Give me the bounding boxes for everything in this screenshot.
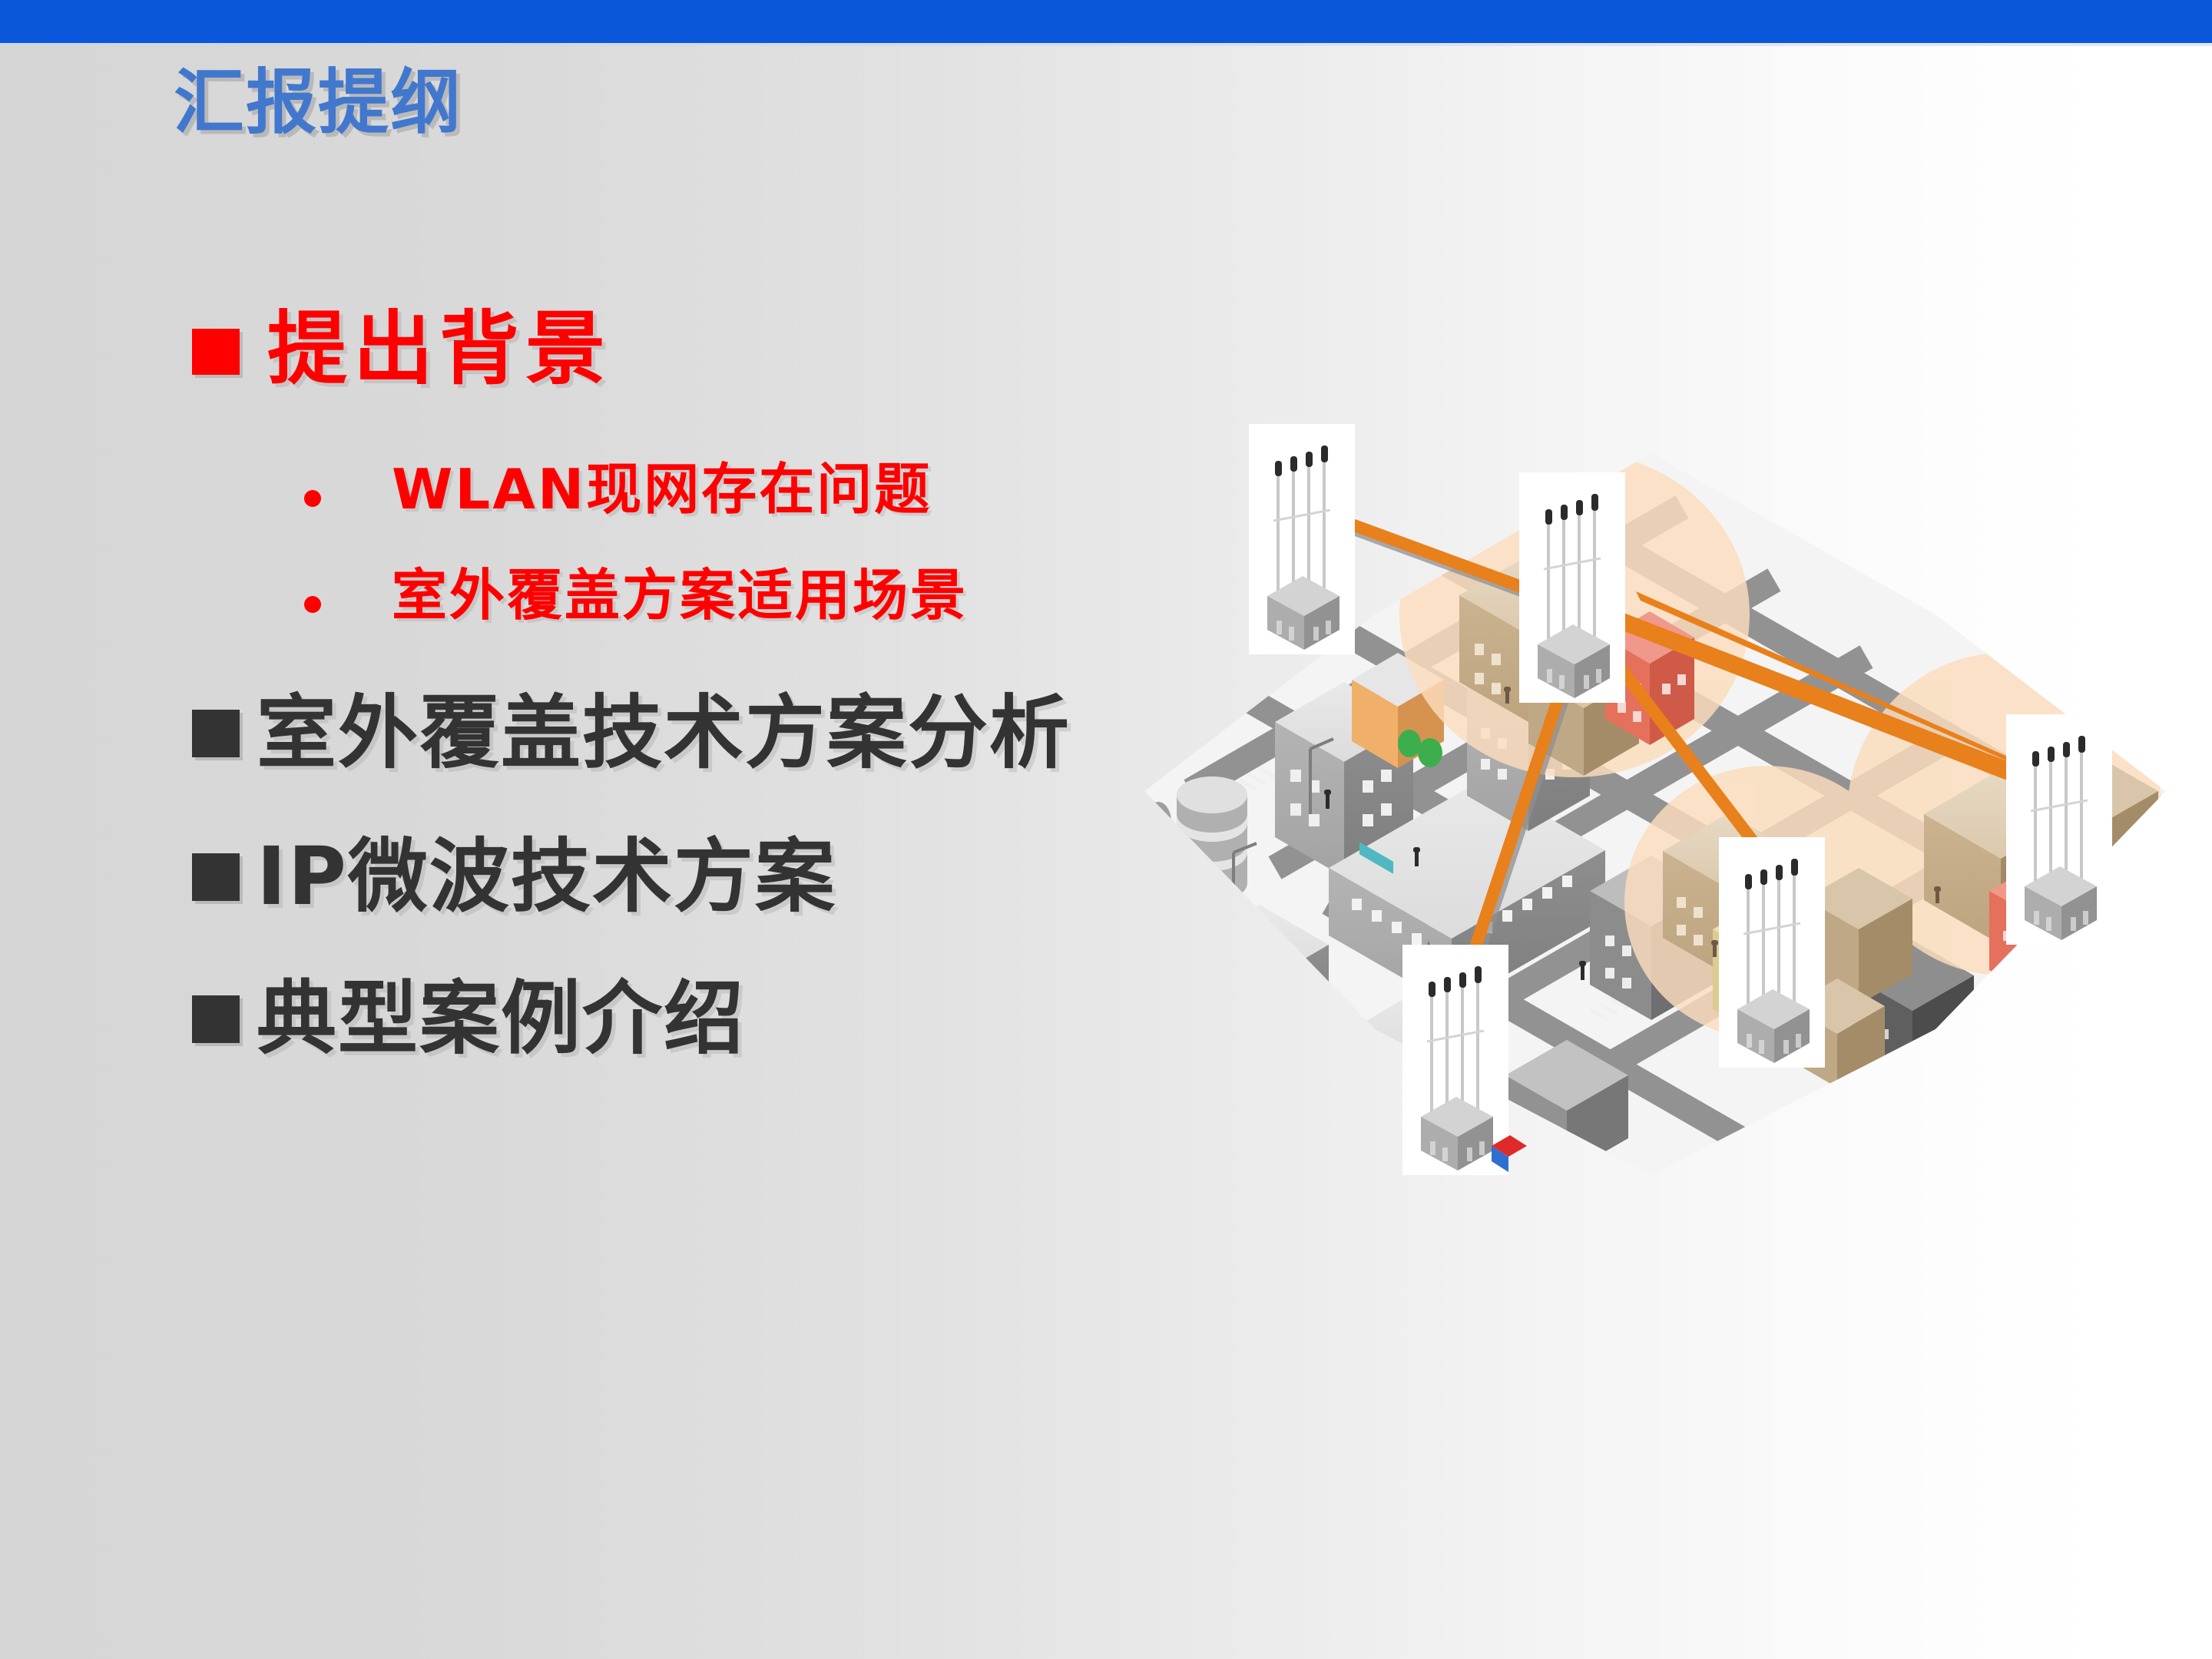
list-item-label: IP微波技术方案 — [257, 835, 836, 919]
square-bullet-icon — [192, 710, 240, 757]
antenna-card — [1402, 945, 1527, 1175]
city-coverage-illustration — [1098, 361, 2197, 1221]
square-bullet-icon — [192, 853, 240, 901]
list-item[interactable]: 典型案例介绍 — [192, 977, 745, 1061]
dot-bullet-icon — [304, 596, 321, 613]
list-item[interactable]: WLAN现网存在问题 — [304, 461, 932, 519]
antenna-card — [1249, 424, 1355, 654]
square-bullet-icon — [192, 329, 240, 375]
list-item-label: 典型案例介绍 — [257, 977, 745, 1061]
top-bar-underline — [0, 43, 2212, 46]
list-item[interactable]: IP微波技术方案 — [192, 835, 836, 919]
list-item-label: WLAN现网存在问题 — [392, 461, 932, 519]
antenna-card — [1519, 472, 1625, 703]
list-item[interactable]: 室外覆盖方案适用场景 — [304, 567, 968, 625]
slide-canvas: 汇报提纲 提出背景 WLAN现网存在问题 室外覆盖方案适用场景 室外覆盖技术方案… — [0, 0, 2212, 1659]
list-item-label: 室外覆盖技术方案分析 — [257, 691, 1071, 775]
dot-bullet-icon — [304, 490, 321, 507]
list-item-label: 提出背景 — [267, 307, 611, 391]
list-item-label: 室外覆盖方案适用场景 — [392, 567, 968, 625]
antenna-card — [1719, 837, 1825, 1068]
square-bullet-icon — [192, 995, 240, 1043]
page-title: 汇报提纲 — [174, 68, 462, 138]
list-item[interactable]: 提出背景 — [192, 307, 611, 391]
top-blue-bar — [0, 0, 2212, 43]
antenna-card — [2006, 714, 2112, 945]
list-item[interactable]: 室外覆盖技术方案分析 — [192, 691, 1071, 775]
